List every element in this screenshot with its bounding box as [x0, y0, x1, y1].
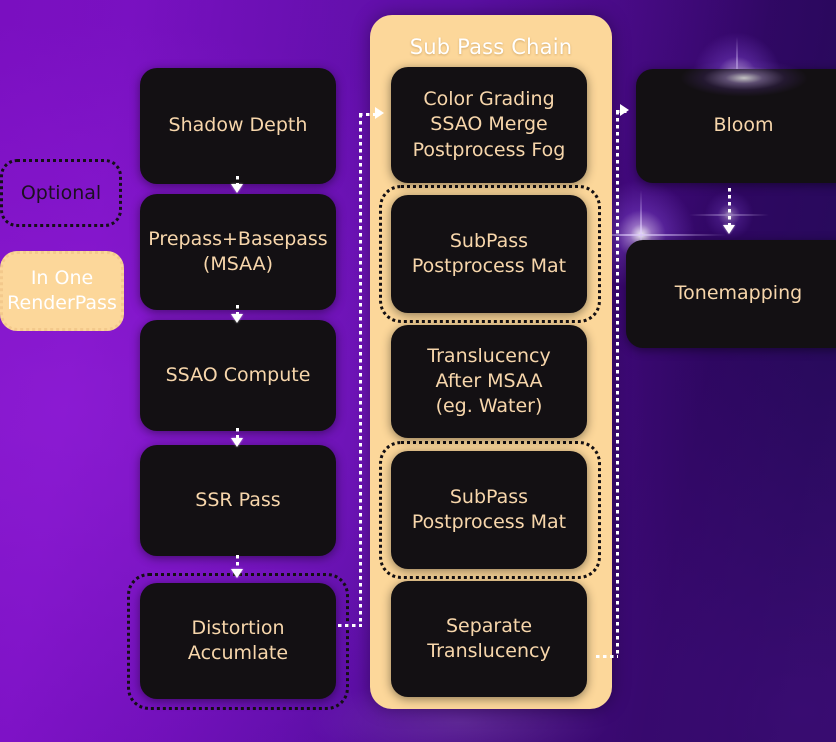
legend-optional: Optional: [0, 159, 122, 227]
node-bloom[interactable]: Bloom: [636, 69, 836, 183]
arrowhead-shadow-to-prepass: [231, 184, 243, 193]
node-ssr-pass[interactable]: SSR Pass: [140, 445, 336, 556]
arrowhead-subpass-to-bloom: [620, 104, 629, 116]
node-translucency-after-msaa[interactable]: Translucency After MSAA (eg. Water): [391, 325, 587, 438]
node-shadow-depth[interactable]: Shadow Depth: [140, 68, 336, 184]
arrowhead-bloom-to-tonemapping: [723, 225, 735, 234]
node-color-grading-label: Color Grading SSAO Merge Postprocess Fog: [413, 87, 566, 163]
connector-bloom-to-tonemapping: [728, 188, 731, 228]
node-separate-translucency-label: Separate Translucency: [427, 614, 550, 665]
arrowhead-distortion-to-colorgrading: [375, 107, 384, 119]
node-ssao-compute[interactable]: SSAO Compute: [140, 320, 336, 431]
node-distortion-accumlate[interactable]: Distortion Accumlate: [140, 583, 336, 699]
node-ssao-compute-label: SSAO Compute: [166, 363, 311, 388]
node-color-grading[interactable]: Color Grading SSAO Merge Postprocess Fog: [391, 67, 587, 183]
node-tonemapping-label: Tonemapping: [675, 281, 802, 306]
arrowhead-prepass-to-ssao: [231, 314, 243, 323]
node-bloom-label: Bloom: [713, 113, 773, 138]
connector-subpass-out: [596, 655, 618, 658]
legend-optional-label: Optional: [21, 182, 101, 204]
arrowhead-ssr-to-distortion: [231, 569, 243, 578]
node-shadow-depth-label: Shadow Depth: [169, 113, 308, 138]
node-subpass-postprocess-mat-2-label: SubPass Postprocess Mat: [412, 485, 566, 536]
connector-distortion-riser: [359, 114, 362, 626]
connector-subpass-riser: [616, 111, 619, 657]
node-subpass-postprocess-mat-1[interactable]: SubPass Postprocess Mat: [391, 195, 587, 313]
legend-in-one-renderpass-label: In One RenderPass: [7, 266, 117, 315]
arrowhead-ssao-to-ssr: [231, 438, 243, 447]
legend-in-one-renderpass: In One RenderPass: [0, 251, 124, 331]
diagram-canvas: Optional In One RenderPass Sub Pass Chai…: [0, 0, 836, 742]
node-distortion-accumlate-label: Distortion Accumlate: [188, 616, 288, 667]
node-subpass-postprocess-mat-1-label: SubPass Postprocess Mat: [412, 229, 566, 280]
node-tonemapping[interactable]: Tonemapping: [626, 240, 836, 348]
sub-pass-chain-title: Sub Pass Chain: [370, 35, 612, 59]
node-translucency-after-msaa-label: Translucency After MSAA (eg. Water): [427, 344, 550, 420]
node-ssr-pass-label: SSR Pass: [195, 488, 280, 513]
node-prepass-basepass-label: Prepass+Basepass (MSAA): [148, 227, 327, 278]
node-separate-translucency[interactable]: Separate Translucency: [391, 581, 587, 697]
node-subpass-postprocess-mat-2[interactable]: SubPass Postprocess Mat: [391, 451, 587, 569]
node-prepass-basepass[interactable]: Prepass+Basepass (MSAA): [140, 194, 336, 310]
